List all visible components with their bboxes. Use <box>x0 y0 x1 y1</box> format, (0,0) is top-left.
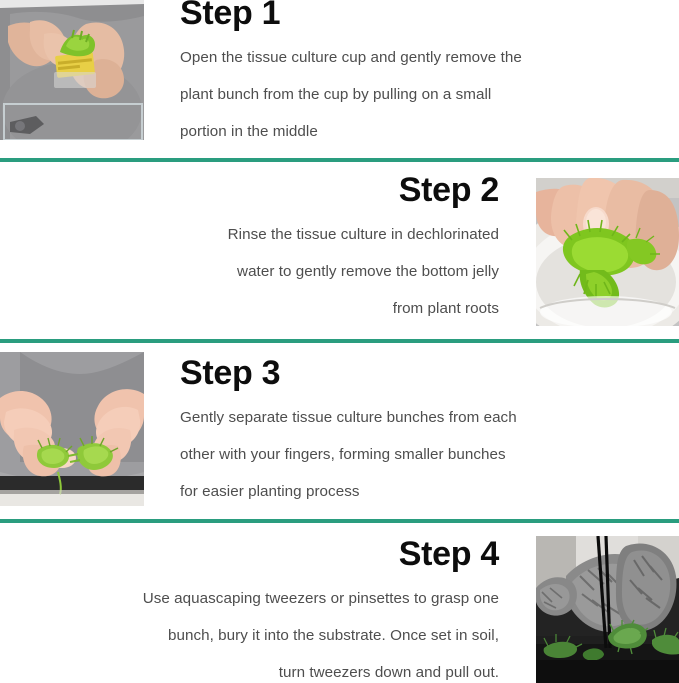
planting-steps-infographic: Step 1 Open the tissue culture cup and g… <box>0 0 679 683</box>
step-1-title: Step 1 <box>180 0 649 32</box>
hands-opening-tissue-culture-cup-photo <box>0 0 144 140</box>
step-4-description: Use aquascaping tweezers or pinsettes to… <box>30 573 499 683</box>
step-2-line-2: water to gently remove the bottom jelly <box>30 253 499 290</box>
step-1-line-3: portion in the middle <box>180 113 649 150</box>
step-1-text-block: Step 1 Open the tissue culture cup and g… <box>180 0 649 150</box>
step-1-line-1: Open the tissue culture cup and gently r… <box>180 39 649 76</box>
step-1-line-2: plant bunch from the cup by pulling on a… <box>180 76 649 113</box>
step-row-2: Step 2 Rinse the tissue culture in dechl… <box>0 162 679 339</box>
step-3-description: Gently separate tissue culture bunches f… <box>180 392 649 510</box>
step-2-text-block: Step 2 Rinse the tissue culture in dechl… <box>30 162 499 327</box>
step-4-text-block: Step 4 Use aquascaping tweezers or pinse… <box>30 523 499 683</box>
step-1-description: Open the tissue culture cup and gently r… <box>180 32 649 150</box>
step-2-line-3: from plant roots <box>30 290 499 327</box>
step-2-title: Step 2 <box>30 171 499 209</box>
step-2-description: Rinse the tissue culture in dechlorinate… <box>30 209 499 327</box>
step-3-text-block: Step 3 Gently separate tissue culture bu… <box>180 343 649 510</box>
step-3-line-1: Gently separate tissue culture bunches f… <box>180 399 649 436</box>
step-3-line-2: other with your fingers, forming smaller… <box>180 436 649 473</box>
aquascape-tweezers-planting-photo <box>536 536 679 683</box>
hands-rinsing-plant-in-bowl-photo <box>536 178 679 326</box>
step-4-line-2: bunch, bury it into the substrate. Once … <box>30 617 499 654</box>
hands-separating-plant-bunches-photo <box>0 352 144 506</box>
step-4-title: Step 4 <box>30 535 499 573</box>
step-row-3: Step 3 Gently separate tissue culture bu… <box>0 343 679 519</box>
step-row-1: Step 1 Open the tissue culture cup and g… <box>0 0 679 158</box>
step-row-4: Step 4 Use aquascaping tweezers or pinse… <box>0 523 679 683</box>
step-4-line-1: Use aquascaping tweezers or pinsettes to… <box>30 580 499 617</box>
step-3-line-3: for easier planting process <box>180 473 649 510</box>
step-4-line-3: turn tweezers down and pull out. <box>30 654 499 683</box>
step-3-title: Step 3 <box>180 354 649 392</box>
step-2-line-1: Rinse the tissue culture in dechlorinate… <box>30 216 499 253</box>
